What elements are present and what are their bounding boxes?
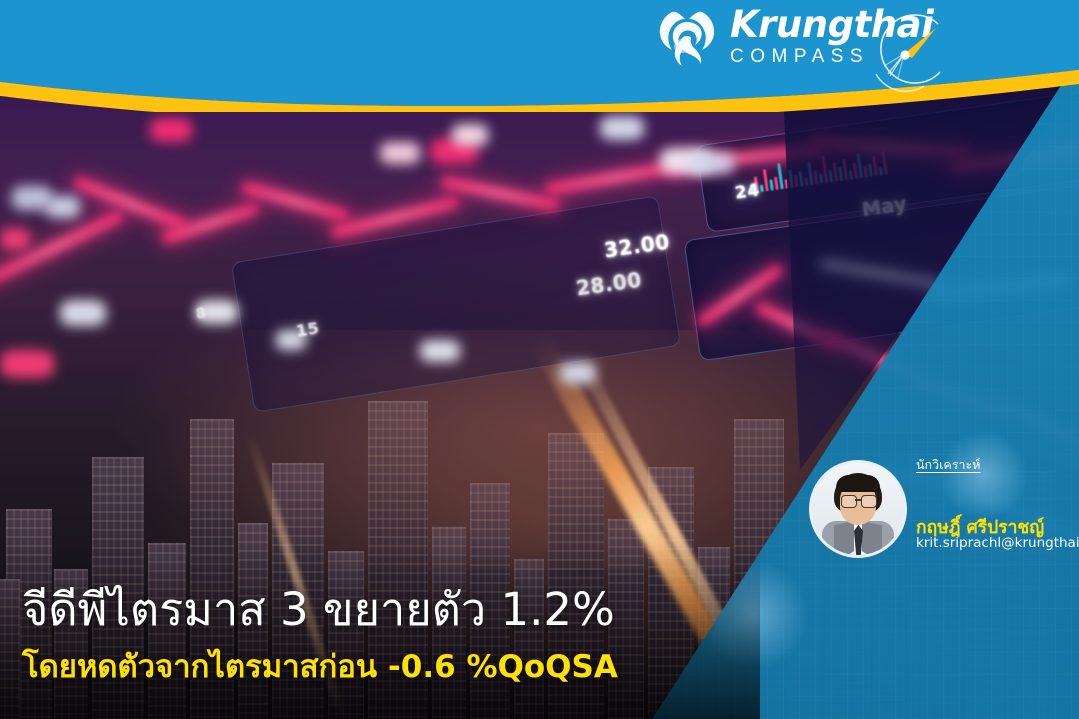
avatar-glasses-left [841,495,857,508]
avatar-fringe [836,475,880,492]
avatar-glasses-bridge [855,499,861,501]
analyst-email[interactable]: krit.sriprachl@krungthai.com [916,535,1079,551]
avatar-lapel-left [834,521,854,555]
page-subtitle: โดยหดตัวจากไตรมาสก่อน -0.6 %QoQSA [22,651,618,684]
analyst-card: นักวิเคราะห์ กฤษฎิ์ ศรีปราชญ์ krit.sripr… [812,455,1079,565]
promo-banner: 32.00 28.00 24 May 15 8 [0,0,1079,719]
brand-header-band: Krungthai COMPASS [0,0,1079,112]
avatar-glasses-right [861,495,877,508]
avatar [812,463,904,555]
avatar-lapel-right [862,521,882,555]
page-title: จีดีพีไตรมาส 3 ขยายตัว 1.2% [22,586,615,634]
krungthai-bird-icon [652,6,722,72]
compass-needle-icon [868,14,946,96]
analyst-role-label: นักวิเคราะห์ [916,455,980,475]
